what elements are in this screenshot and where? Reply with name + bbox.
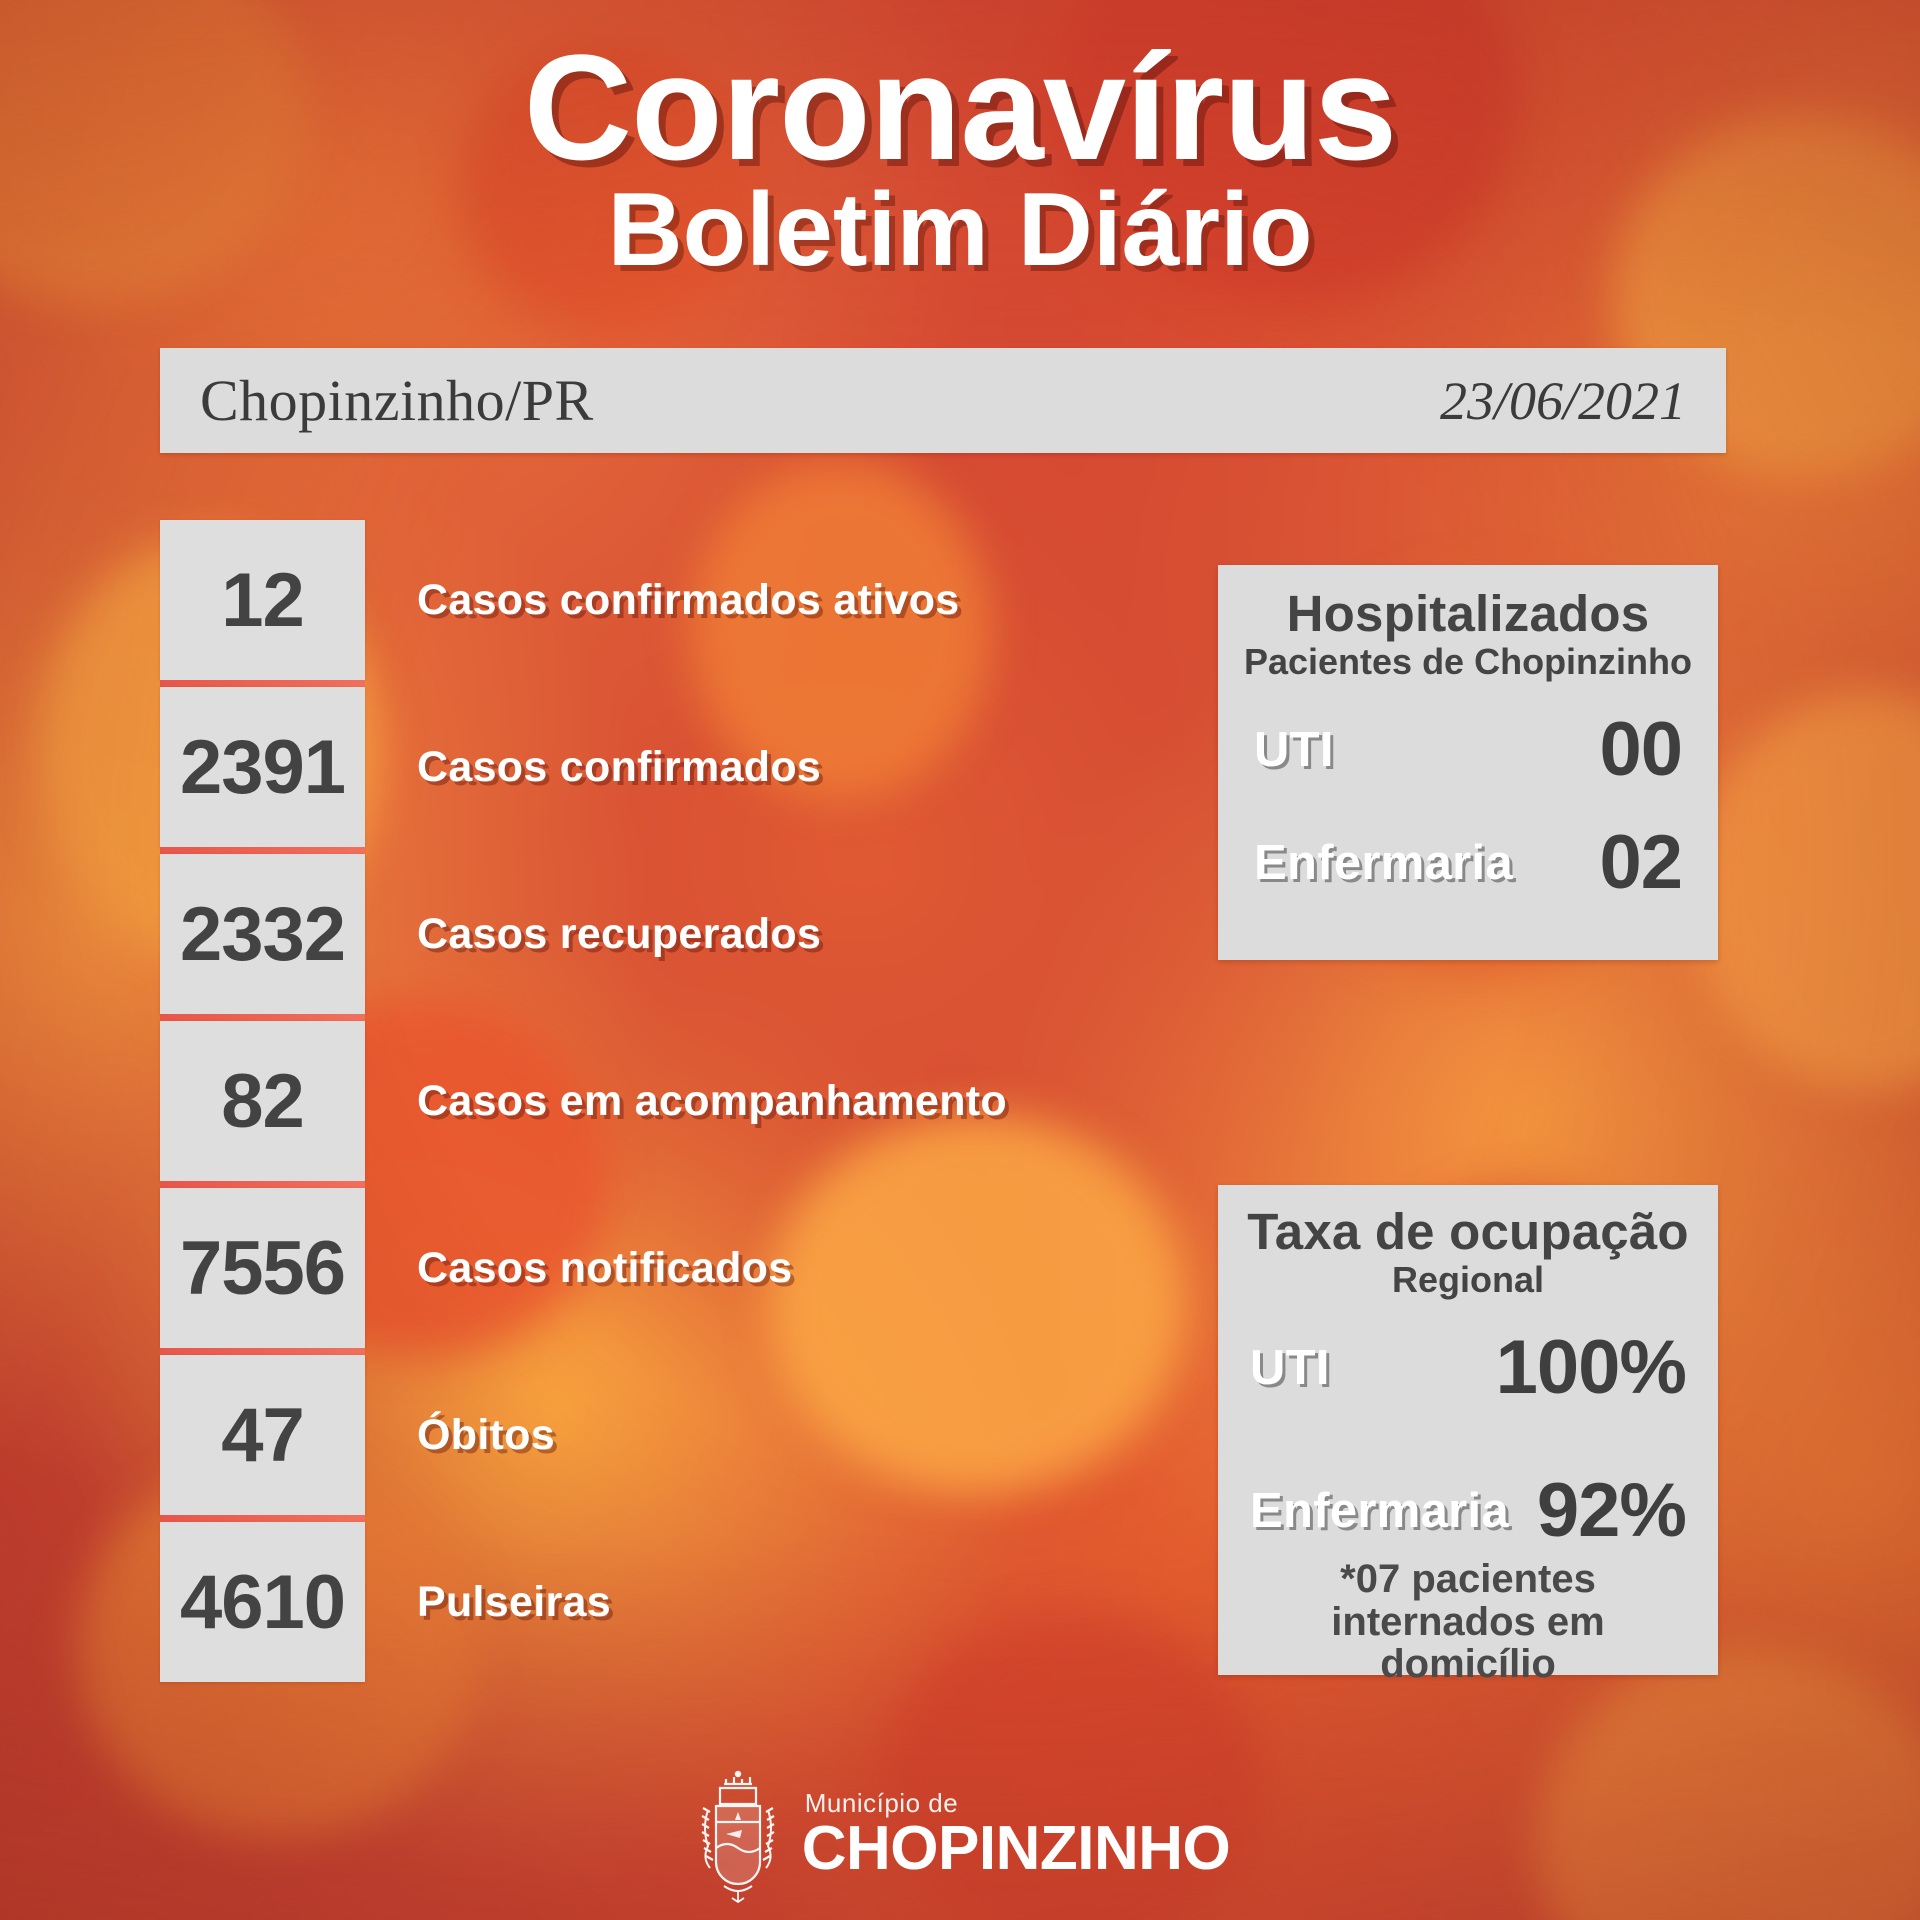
stat-separator <box>160 847 1170 854</box>
stat-label: Casos confirmados <box>365 687 1170 847</box>
hospitalized-row-uti: UTI 00 <box>1240 706 1696 793</box>
stat-row: 47 Óbitos <box>160 1355 1170 1515</box>
stat-label: Casos em acompanhamento <box>365 1021 1170 1181</box>
hospitalized-card: Hospitalizados Pacientes de Chopinzinho … <box>1218 565 1718 960</box>
hospitalized-uti-value: 00 <box>1599 706 1682 793</box>
title-main: Coronavírus <box>0 32 1920 182</box>
footer-logo: Município de CHOPINZINHO <box>0 1760 1920 1910</box>
stat-row: 2332 Casos recuperados <box>160 854 1170 1014</box>
stat-row: 12 Casos confirmados ativos <box>160 520 1170 680</box>
footer-prefix: Município de <box>805 1790 1231 1816</box>
occupancy-enfermaria-label: Enfermaria <box>1250 1483 1509 1539</box>
stat-label: Casos notificados <box>365 1188 1170 1348</box>
stat-label: Pulseiras <box>365 1522 1170 1682</box>
stat-separator <box>160 1515 1170 1522</box>
stat-row: 2391 Casos confirmados <box>160 687 1170 847</box>
stat-label: Casos confirmados ativos <box>365 520 1170 680</box>
stat-value: 12 <box>160 520 365 680</box>
stat-separator <box>160 1014 1170 1021</box>
stat-value: 4610 <box>160 1522 365 1682</box>
coat-of-arms-icon <box>690 1760 786 1910</box>
occupancy-enfermaria-value: 92% <box>1537 1467 1686 1554</box>
occupancy-subtitle: Regional <box>1236 1261 1700 1299</box>
occupancy-title: Taxa de ocupação <box>1236 1205 1700 1259</box>
page-title: Coronavírus Boletim Diário <box>0 32 1920 285</box>
stat-row: 4610 Pulseiras <box>160 1522 1170 1682</box>
hospitalized-subtitle: Pacientes de Chopinzinho <box>1240 643 1696 681</box>
occupancy-rate-card: Taxa de ocupação Regional UTI 100% Enfer… <box>1218 1185 1718 1675</box>
occupancy-uti-value: 100% <box>1496 1324 1686 1411</box>
stat-value: 7556 <box>160 1188 365 1348</box>
stat-value: 2332 <box>160 854 365 1014</box>
stat-value: 47 <box>160 1355 365 1515</box>
footer-city: CHOPINZINHO <box>802 1818 1231 1880</box>
hospitalized-enfermaria-label: Enfermaria <box>1254 835 1513 891</box>
stat-value: 82 <box>160 1021 365 1181</box>
stat-row: 7556 Casos notificados <box>160 1188 1170 1348</box>
city-date-bar: Chopinzinho/PR 23/06/2021 <box>160 348 1726 453</box>
stat-separator <box>160 1181 1170 1188</box>
hospitalized-title: Hospitalizados <box>1240 587 1696 641</box>
stats-list: 12 Casos confirmados ativos 2391 Casos c… <box>160 520 1170 1682</box>
hospitalized-uti-label: UTI <box>1254 722 1334 778</box>
occupancy-row-enfermaria: Enfermaria 92% <box>1236 1467 1700 1554</box>
occupancy-note: *07 pacientes internados em domicílio <box>1236 1558 1700 1685</box>
hospitalized-enfermaria-value: 02 <box>1599 819 1682 906</box>
stat-label: Casos recuperados <box>365 854 1170 1014</box>
hospitalized-row-enfermaria: Enfermaria 02 <box>1240 819 1696 906</box>
city-label: Chopinzinho/PR <box>200 367 594 434</box>
occupancy-row-uti: UTI 100% <box>1236 1324 1700 1411</box>
stat-label: Óbitos <box>365 1355 1170 1515</box>
stat-value: 2391 <box>160 687 365 847</box>
occupancy-uti-label: UTI <box>1250 1340 1330 1396</box>
title-subtitle: Boletim Diário <box>0 176 1920 285</box>
date-label: 23/06/2021 <box>1440 370 1686 432</box>
stat-separator <box>160 1348 1170 1355</box>
stat-separator <box>160 680 1170 687</box>
stat-row: 82 Casos em acompanhamento <box>160 1021 1170 1181</box>
